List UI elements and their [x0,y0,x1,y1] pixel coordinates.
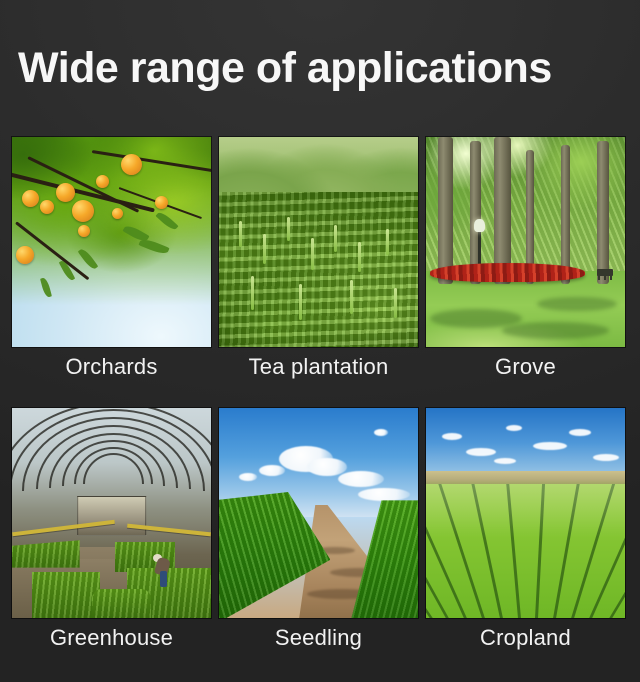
gallery-caption-grove: Grove [426,354,625,380]
sky-layer [426,408,625,477]
orchard-photo [12,137,211,347]
worker-figure [151,551,175,585]
gallery-grid: Orchards [0,132,640,674]
application-gallery-banner: Wide range of applications [0,0,640,682]
greenhouse-photo [12,408,211,618]
gallery-tile-grove[interactable] [426,137,625,347]
gallery-row: Orchards [0,132,640,403]
park-bench [597,269,613,276]
gallery-caption-cropland: Cropland [426,625,625,651]
gallery-tile-cropland[interactable] [426,408,625,618]
gallery-tile-orchards[interactable] [12,137,211,347]
tea-bush-rows [219,192,418,347]
gallery-caption-seedling: Seedling [219,625,418,651]
tunnel-end-wall [77,496,147,536]
flower-bed [430,263,585,282]
lawn-shadow [537,297,617,312]
lawn-shadow [430,309,522,328]
tea-plantation-photo [219,137,418,347]
cropland-photo [426,408,625,618]
gallery-tile-tea-plantation[interactable] [219,137,418,347]
gallery-caption-greenhouse: Greenhouse [12,625,211,651]
seedling-photo [219,408,418,618]
gallery-row: Greenhouse [0,403,640,674]
crop-row [32,572,100,618]
field-highlight [426,484,625,539]
lawn-shadow [502,322,609,339]
gallery-tile-seedling[interactable] [219,408,418,618]
grove-photo [426,137,625,347]
lamp-head-icon [474,219,485,232]
crop-row [92,589,152,618]
gallery-tile-greenhouse[interactable] [12,408,211,618]
gallery-caption-orchards: Orchards [12,354,211,380]
page-title: Wide range of applications [18,42,552,94]
gallery-caption-tea-plantation: Tea plantation [219,354,418,380]
branch-layer [12,137,211,347]
